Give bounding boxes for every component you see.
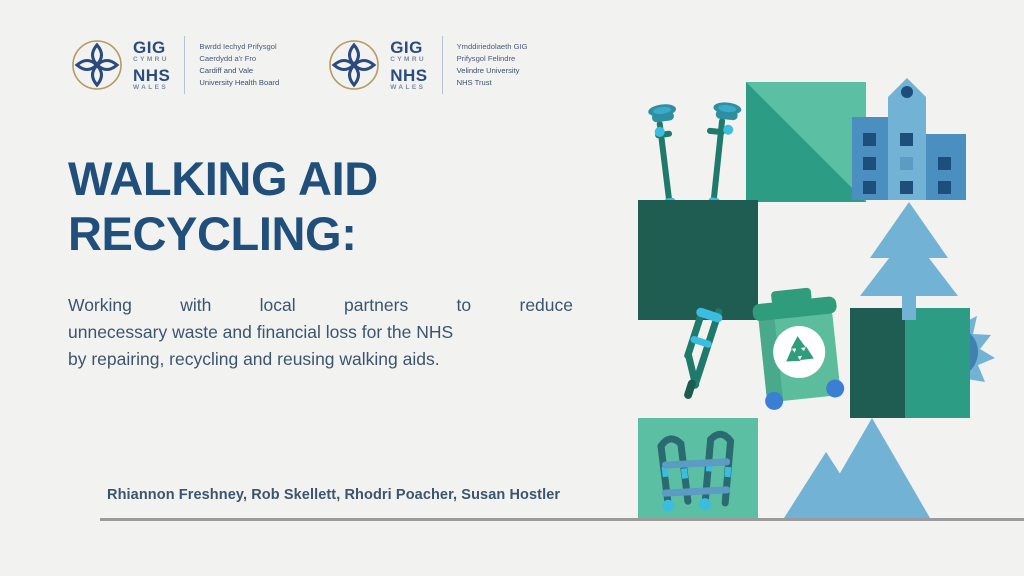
teal-square-diagonal: [746, 82, 866, 202]
subtitle-line-1: Working with local partners to reduce: [68, 292, 573, 319]
nhs-wales-celtic-knot-icon: [68, 36, 126, 94]
page-title: WALKING AID RECYCLING:: [68, 152, 498, 261]
logo-velindre: GIG CYMRU NHS WALES Ymddiriedolaeth GIG …: [325, 36, 527, 94]
logo-divider: [442, 36, 443, 94]
logo-line-cy-1: Bwrdd Iechyd Prifysgol: [199, 41, 279, 53]
author-list: Rhiannon Freshney, Rob Skellett, Rhodri …: [107, 487, 560, 503]
wales-word: WALES: [133, 85, 168, 92]
dark-teal-square: [638, 200, 758, 320]
logo-line-cy-1: Ymddiriedolaeth GIG: [457, 41, 528, 53]
cymru-word: CYMRU: [133, 57, 169, 64]
forearm-crutches-icon: [648, 101, 742, 209]
pine-tree-icon: [860, 202, 958, 320]
illustration: [600, 0, 1024, 576]
subtitle-line-3: by repairing, recycling and reusing walk…: [68, 346, 573, 373]
nhs-wales-celtic-knot-icon: [325, 36, 383, 94]
wales-word: WALES: [390, 85, 425, 92]
logo-line-en-1: Velindre University: [457, 65, 528, 77]
logo-line-cy-2: Caerdydd a'r Fro: [199, 53, 279, 65]
mountains-icon: [784, 418, 930, 518]
slide-root: GIG CYMRU NHS WALES Bwrdd Iechyd Prifysg…: [0, 0, 1024, 576]
title-line-2: RECYCLING:: [68, 207, 356, 260]
green-square-split: [850, 308, 970, 418]
nhs-wordmark: GIG CYMRU NHS WALES: [390, 39, 427, 91]
logo-divider: [184, 36, 185, 94]
logo-cardiff-and-vale: GIG CYMRU NHS WALES Bwrdd Iechyd Prifysg…: [68, 36, 279, 94]
nhs-word: NHS: [390, 67, 427, 84]
logo-organisation-name: Ymddiriedolaeth GIG Prifysgol Felindre V…: [457, 41, 528, 89]
logo-line-en-1: Cardiff and Vale: [199, 65, 279, 77]
logo-bar: GIG CYMRU NHS WALES Bwrdd Iechyd Prifysg…: [68, 36, 528, 94]
gig-word: GIG: [390, 39, 423, 56]
subtitle-line-2: unnecessary waste and financial loss for…: [68, 319, 573, 346]
nhs-wordmark: GIG CYMRU NHS WALES: [133, 39, 170, 91]
logo-organisation-name: Bwrdd Iechyd Prifysgol Caerdydd a'r Fro …: [199, 41, 279, 89]
subtitle: Working with local partners to reduce un…: [68, 292, 573, 373]
apartment-building-icon: [852, 78, 966, 200]
recycling-bin-icon: [751, 285, 847, 411]
title-line-1: WALKING AID: [68, 152, 378, 205]
cymru-word: CYMRU: [390, 57, 426, 64]
logo-line-en-2: NHS Trust: [457, 77, 528, 89]
logo-line-cy-2: Prifysgol Felindre: [457, 53, 528, 65]
walking-frame-square: [638, 418, 758, 518]
logo-line-en-2: University Health Board: [199, 77, 279, 89]
gig-word: GIG: [133, 39, 166, 56]
nhs-word: NHS: [133, 67, 170, 84]
